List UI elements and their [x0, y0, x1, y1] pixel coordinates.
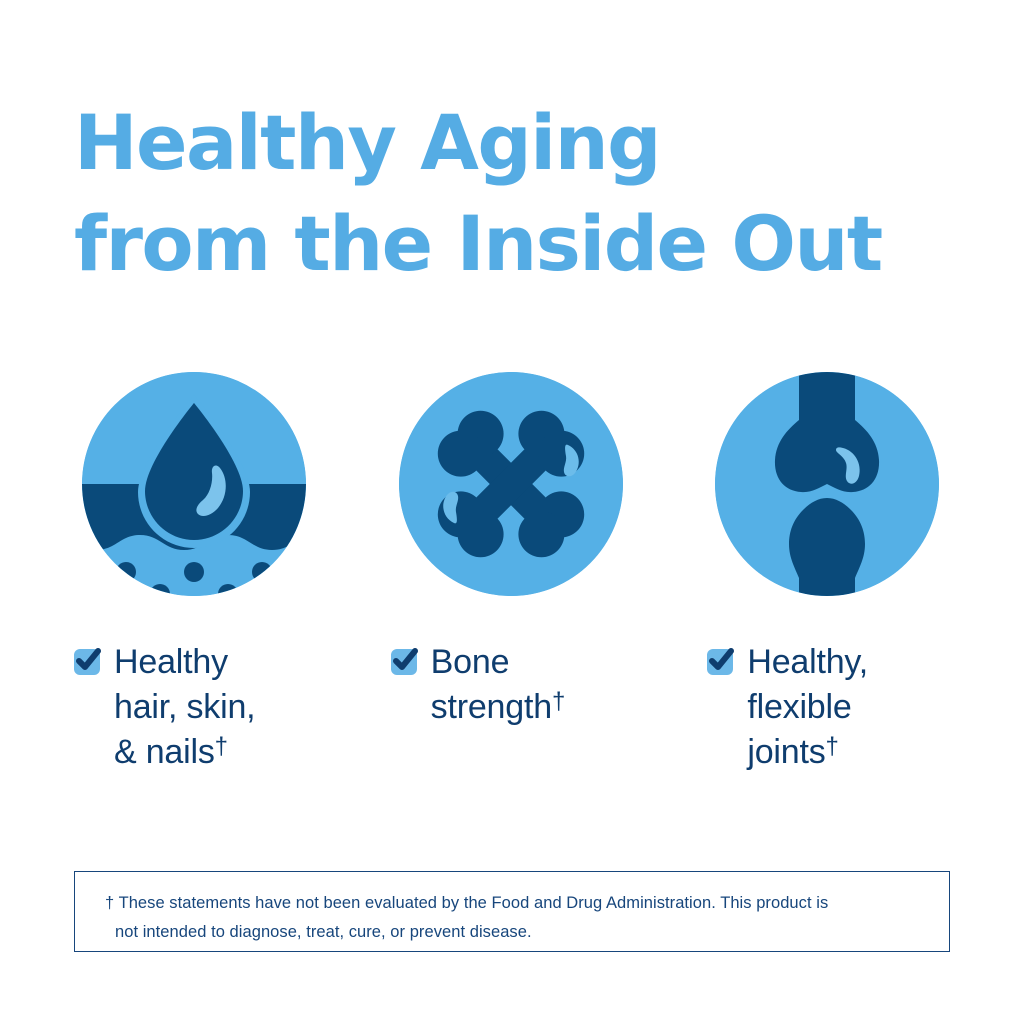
disclaimer-box: † These statements have not been evaluat…	[74, 871, 950, 952]
benefit-label-bone-strength: Bone strength†	[431, 640, 565, 730]
crossed-bones-icon	[399, 372, 623, 596]
benefit-label-row: Bone strength†	[391, 640, 565, 730]
benefit-item-hair-skin-nails: Healthy hair, skin, & nails†	[74, 372, 391, 776]
benefit-item-flexible-joints: Healthy, flexible joints†	[707, 372, 1024, 776]
benefit-label-flexible-joints: Healthy, flexible joints†	[747, 640, 868, 776]
water-droplet-skin-icon	[82, 372, 306, 596]
page-title: Healthy Aging from the Inside Out	[74, 92, 974, 294]
benefit-item-bone-strength: Bone strength†	[391, 372, 708, 776]
disclaimer-line-1: † These statements have not been evaluat…	[105, 894, 828, 912]
benefits-row: Healthy hair, skin, & nails†	[0, 372, 1024, 776]
infographic-page: Healthy Aging from the Inside Out	[0, 0, 1024, 1024]
footnote-marker: †	[552, 688, 565, 715]
disclaimer-text: † These statements have not been evaluat…	[105, 889, 925, 947]
checkmark-icon	[74, 649, 100, 675]
footnote-marker: †	[215, 733, 228, 760]
footnote-marker: †	[826, 733, 839, 760]
disclaimer-line-2: not intended to diagnose, treat, cure, o…	[105, 918, 925, 947]
benefit-label-hair-skin-nails: Healthy hair, skin, & nails†	[114, 640, 255, 776]
checkmark-icon	[391, 649, 417, 675]
benefit-label-row: Healthy, flexible joints†	[707, 640, 868, 776]
checkmark-icon	[707, 649, 733, 675]
benefit-label-row: Healthy hair, skin, & nails†	[74, 640, 255, 776]
knee-joint-icon	[715, 372, 939, 596]
